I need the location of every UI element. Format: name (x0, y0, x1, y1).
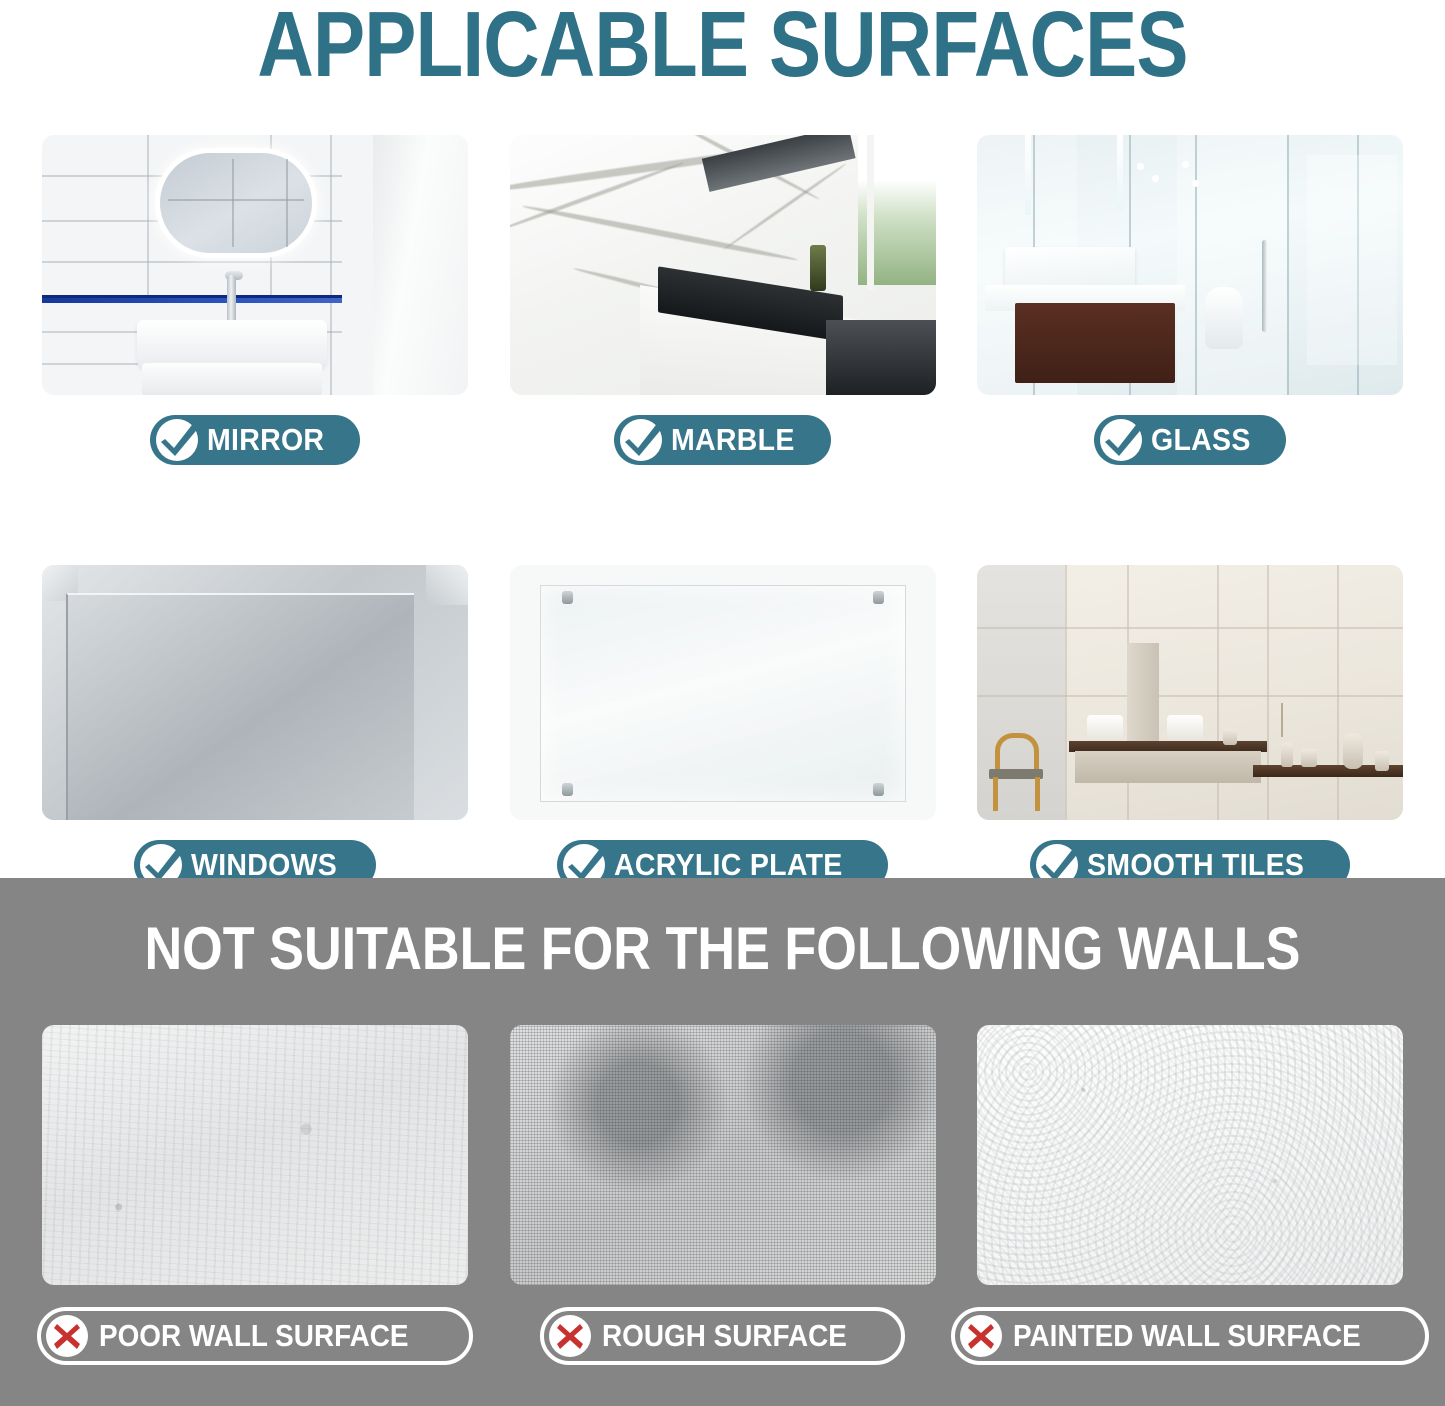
label-pill-wrap: POOR WALL SURFACE (42, 1307, 468, 1365)
label-pill-wrap: MARBLE (510, 415, 936, 465)
applicable-row-2: WINDOWS (42, 565, 1403, 890)
label-text: ROUGH SURFACE (602, 1318, 847, 1354)
not-suitable-grid: POOR WALL SURFACE (42, 1025, 1403, 1365)
label-pill-wrap: MIRROR (42, 415, 468, 465)
label-pill-glass[interactable]: GLASS (1094, 415, 1285, 465)
label-pill-wrap: GLASS (977, 415, 1403, 465)
label-pill-rough-surface[interactable]: ROUGH SURFACE (540, 1307, 904, 1365)
window-pane-photo (42, 565, 468, 820)
section-title: NOT SUITABLE FOR THE FOLLOWING WALLS (94, 916, 1351, 982)
glass-bathroom-photo (977, 135, 1403, 395)
label-text: GLASS (1151, 422, 1251, 458)
x-icon (960, 1315, 1002, 1357)
rough-surface-texture (510, 1025, 936, 1285)
label-pill-wrap: ROUGH SURFACE (510, 1307, 936, 1365)
x-icon (549, 1315, 591, 1357)
surface-card-mirror: MIRROR (42, 135, 468, 465)
bad-surface-card-painted: PAINTED WALL SURFACE (977, 1025, 1403, 1365)
label-text: PAINTED WALL SURFACE (1013, 1318, 1361, 1354)
not-suitable-section: NOT SUITABLE FOR THE FOLLOWING WALLS (0, 878, 1445, 1406)
label-pill-mirror[interactable]: MIRROR (150, 415, 361, 465)
check-icon (1100, 419, 1142, 461)
label-pill-marble[interactable]: MARBLE (614, 415, 831, 465)
applicable-row-1: MIRROR (42, 135, 1403, 465)
page-title: APPLICABLE SURFACES (116, 0, 1330, 94)
label-pill-painted-wall-surface[interactable]: PAINTED WALL SURFACE (951, 1307, 1429, 1365)
surface-card-glass: GLASS (977, 135, 1403, 465)
check-icon (156, 419, 198, 461)
applicable-grid: MIRROR (42, 135, 1403, 890)
bad-surface-card-rough: ROUGH SURFACE (510, 1025, 936, 1365)
bathroom-mirror-photo (42, 135, 468, 395)
x-icon (46, 1315, 88, 1357)
surface-card-acrylic: ACRYLIC PLATE (510, 565, 936, 890)
smooth-tiles-bathroom-photo (977, 565, 1403, 820)
surface-card-marble: MARBLE (510, 135, 936, 465)
acrylic-plate-photo (510, 565, 936, 820)
applicable-surfaces-section: APPLICABLE SURFACES (0, 0, 1445, 878)
label-pill-poor-wall-surface[interactable]: POOR WALL SURFACE (37, 1307, 473, 1365)
label-pill-wrap: PAINTED WALL SURFACE (977, 1307, 1403, 1365)
surface-card-windows: WINDOWS (42, 565, 468, 890)
surface-card-smooth-tiles: SMOOTH TILES (977, 565, 1403, 890)
not-suitable-row: POOR WALL SURFACE (42, 1025, 1403, 1365)
infographic-page: APPLICABLE SURFACES (0, 0, 1445, 1406)
label-text: MIRROR (207, 422, 324, 458)
check-icon (620, 419, 662, 461)
bad-surface-card-poor: POOR WALL SURFACE (42, 1025, 468, 1365)
label-text: MARBLE (671, 422, 795, 458)
painted-wall-texture (977, 1025, 1403, 1285)
label-text: POOR WALL SURFACE (99, 1318, 409, 1354)
poor-wall-texture (42, 1025, 468, 1285)
marble-kitchen-photo (510, 135, 936, 395)
